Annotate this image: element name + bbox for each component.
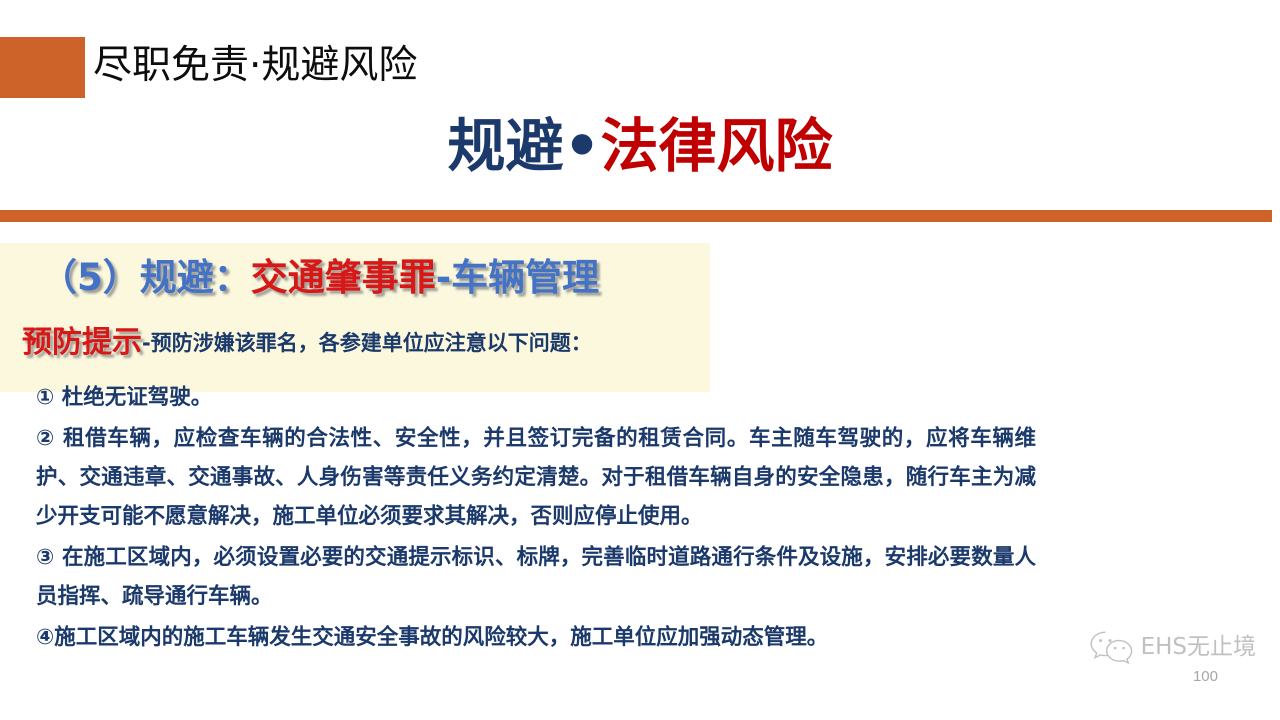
list-item: ③ 在施工区域内，必须设置必要的交通提示标识、标牌，完善临时道路通行条件及设施，… <box>36 538 1036 616</box>
watermark-text: EHS无止境 <box>1141 634 1256 660</box>
section-heading-suffix: -车辆管理 <box>436 256 599 299</box>
header-accent-square <box>0 37 85 98</box>
list-item: ① 杜绝无证驾驶。 <box>36 378 1036 417</box>
main-title-red-part: 法律风险 <box>601 112 833 180</box>
section-heading-prefix: （5）规避： <box>40 256 251 299</box>
page-number: 100 <box>1193 668 1218 686</box>
prevention-tag: 预防提示 <box>22 325 142 360</box>
section-heading-crime: 交通肇事罪 <box>251 256 436 299</box>
prevention-item-list: ① 杜绝无证驾驶。 ② 租借车辆，应检查车辆的合法性、安全性，并且签订完备的租赁… <box>36 378 1036 657</box>
list-item: ④施工区域内的施工车辆发生交通安全事故的风险较大，施工单位应加强动态管理。 <box>36 618 1036 657</box>
wechat-icon <box>1089 630 1135 664</box>
section-heading: （5）规避：交通肇事罪-车辆管理 <box>40 252 599 304</box>
main-title: 规避•法律风险 <box>0 108 1280 184</box>
list-item: ② 租借车辆，应检查车辆的合法性、安全性，并且签订完备的租赁合同。车主随车驾驶的… <box>36 419 1036 536</box>
prevention-body: -预防涉嫌该罪名，各参建单位应注意以下问题： <box>142 331 592 355</box>
divider-bar <box>0 210 1272 222</box>
slide-canvas: 尽职免责·规避风险 规避•法律风险 （5）规避：交通肇事罪-车辆管理 预防提示-… <box>0 0 1280 720</box>
prevention-tip-line: 预防提示-预防涉嫌该罪名，各参建单位应注意以下问题： <box>22 326 592 364</box>
main-title-navy-part: 规避• <box>447 112 600 180</box>
page-title: 尽职免责·规避风险 <box>93 40 417 92</box>
watermark: EHS无止境 <box>1089 630 1256 664</box>
